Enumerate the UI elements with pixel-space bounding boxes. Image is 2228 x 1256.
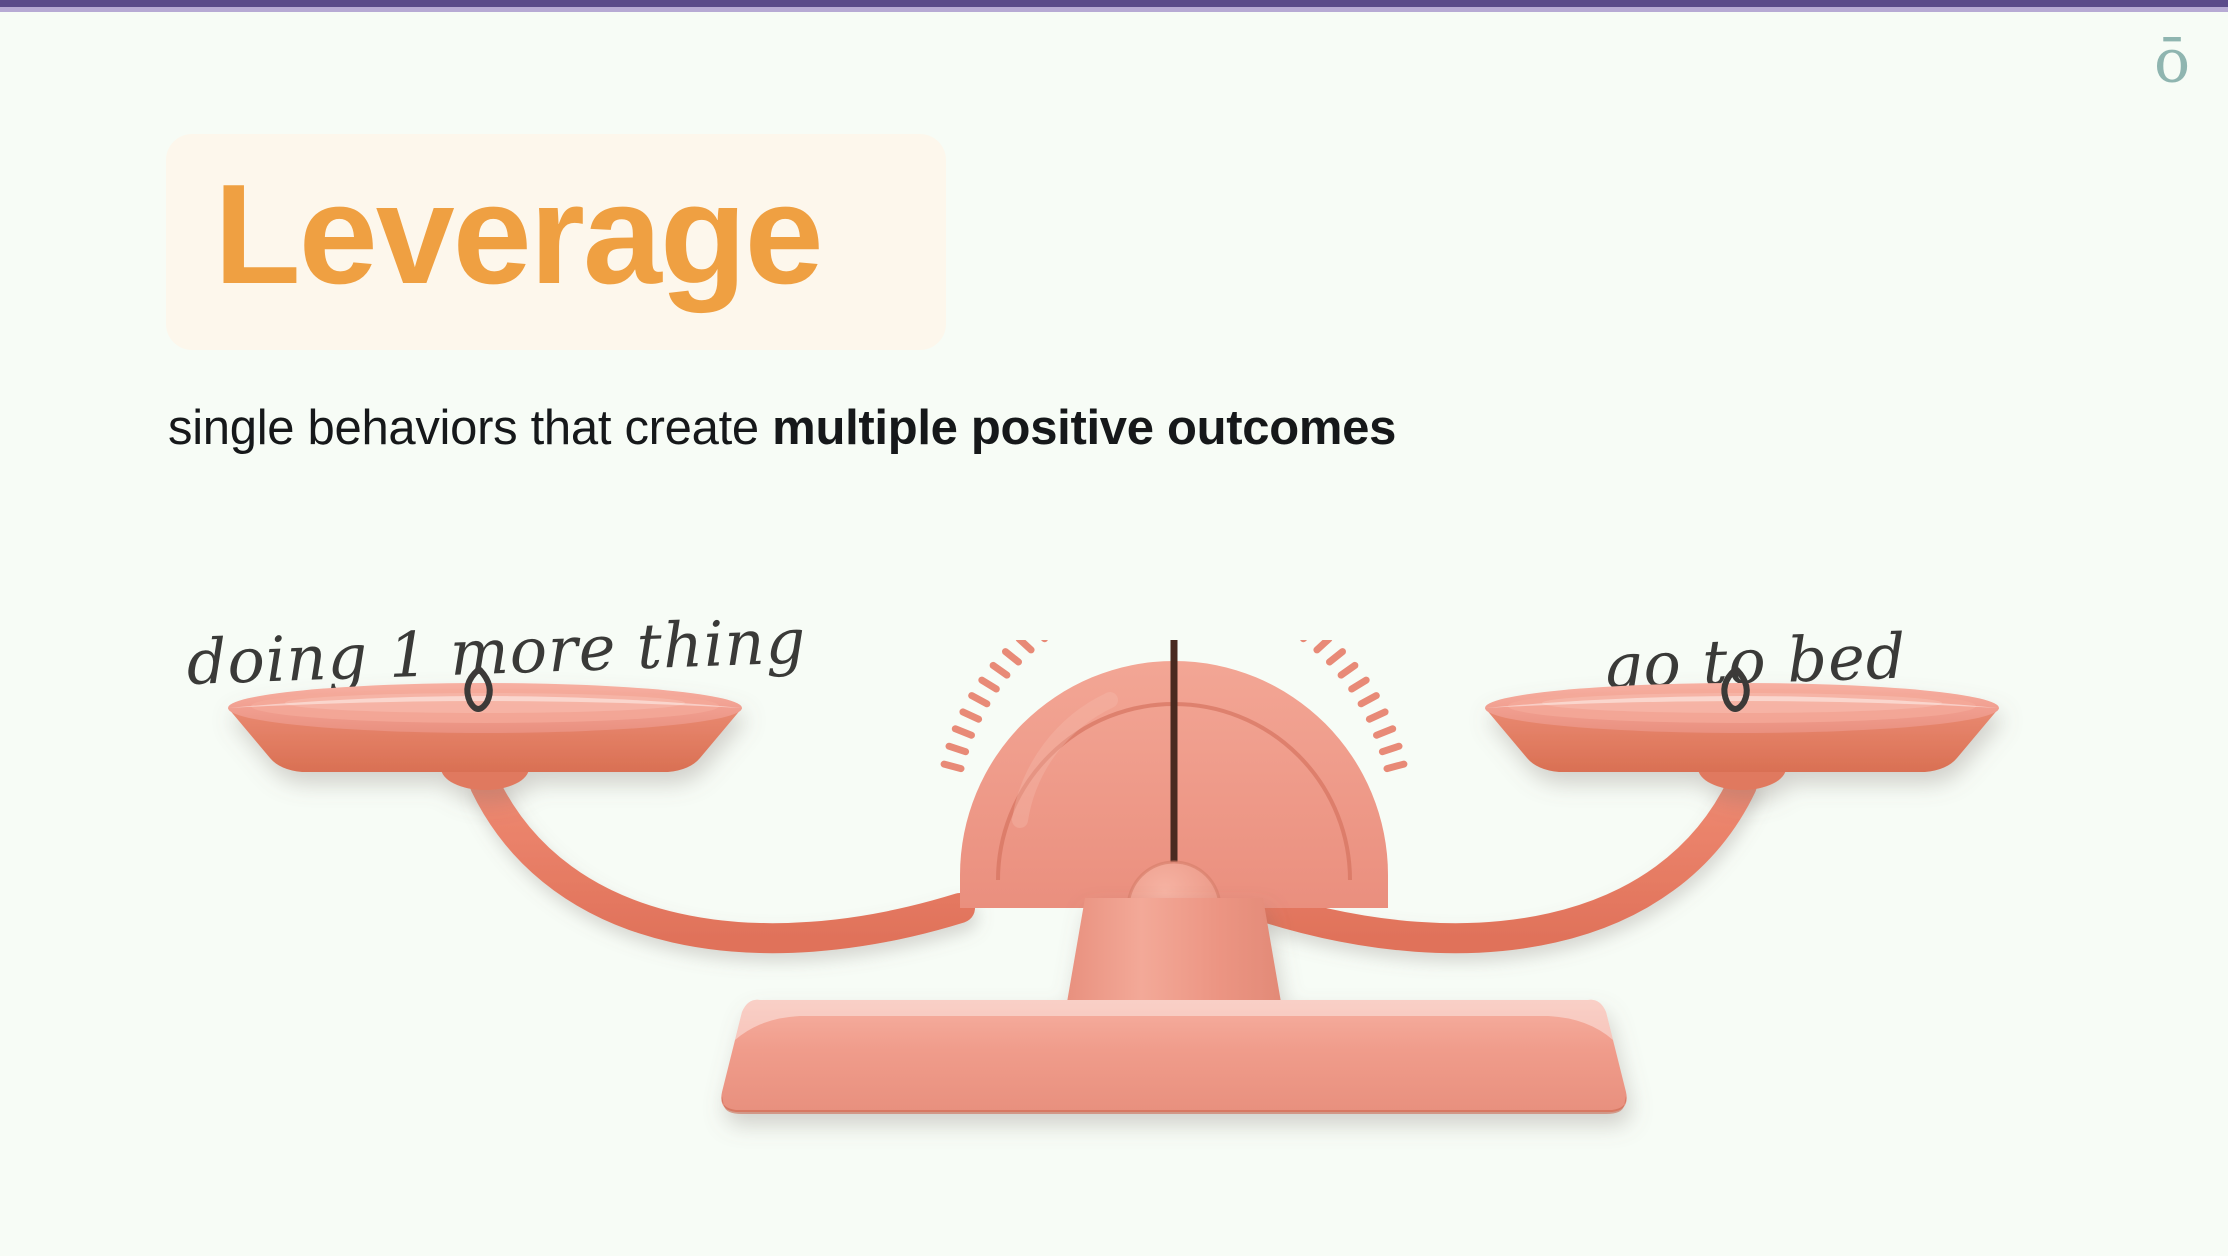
page-title: Leverage (214, 145, 822, 325)
subtitle-lead: single behaviors that create (168, 401, 772, 455)
scale-pan-right (1485, 683, 1999, 790)
brand-logo-icon: ō (2136, 22, 2208, 102)
top-accent-bar-dark (0, 0, 2228, 7)
scale-column (1066, 898, 1282, 1008)
subtitle: single behaviors that create multiple po… (168, 398, 1396, 458)
slide-canvas: ō Leverage single behaviors that create … (0, 0, 2228, 1256)
subtitle-emphasis: multiple positive outcomes (772, 401, 1396, 455)
top-accent-bar-light (0, 7, 2228, 12)
scale-base (721, 1000, 1626, 1112)
scale-pan-left (228, 683, 742, 790)
balance-scale-illustration (0, 640, 2228, 1160)
